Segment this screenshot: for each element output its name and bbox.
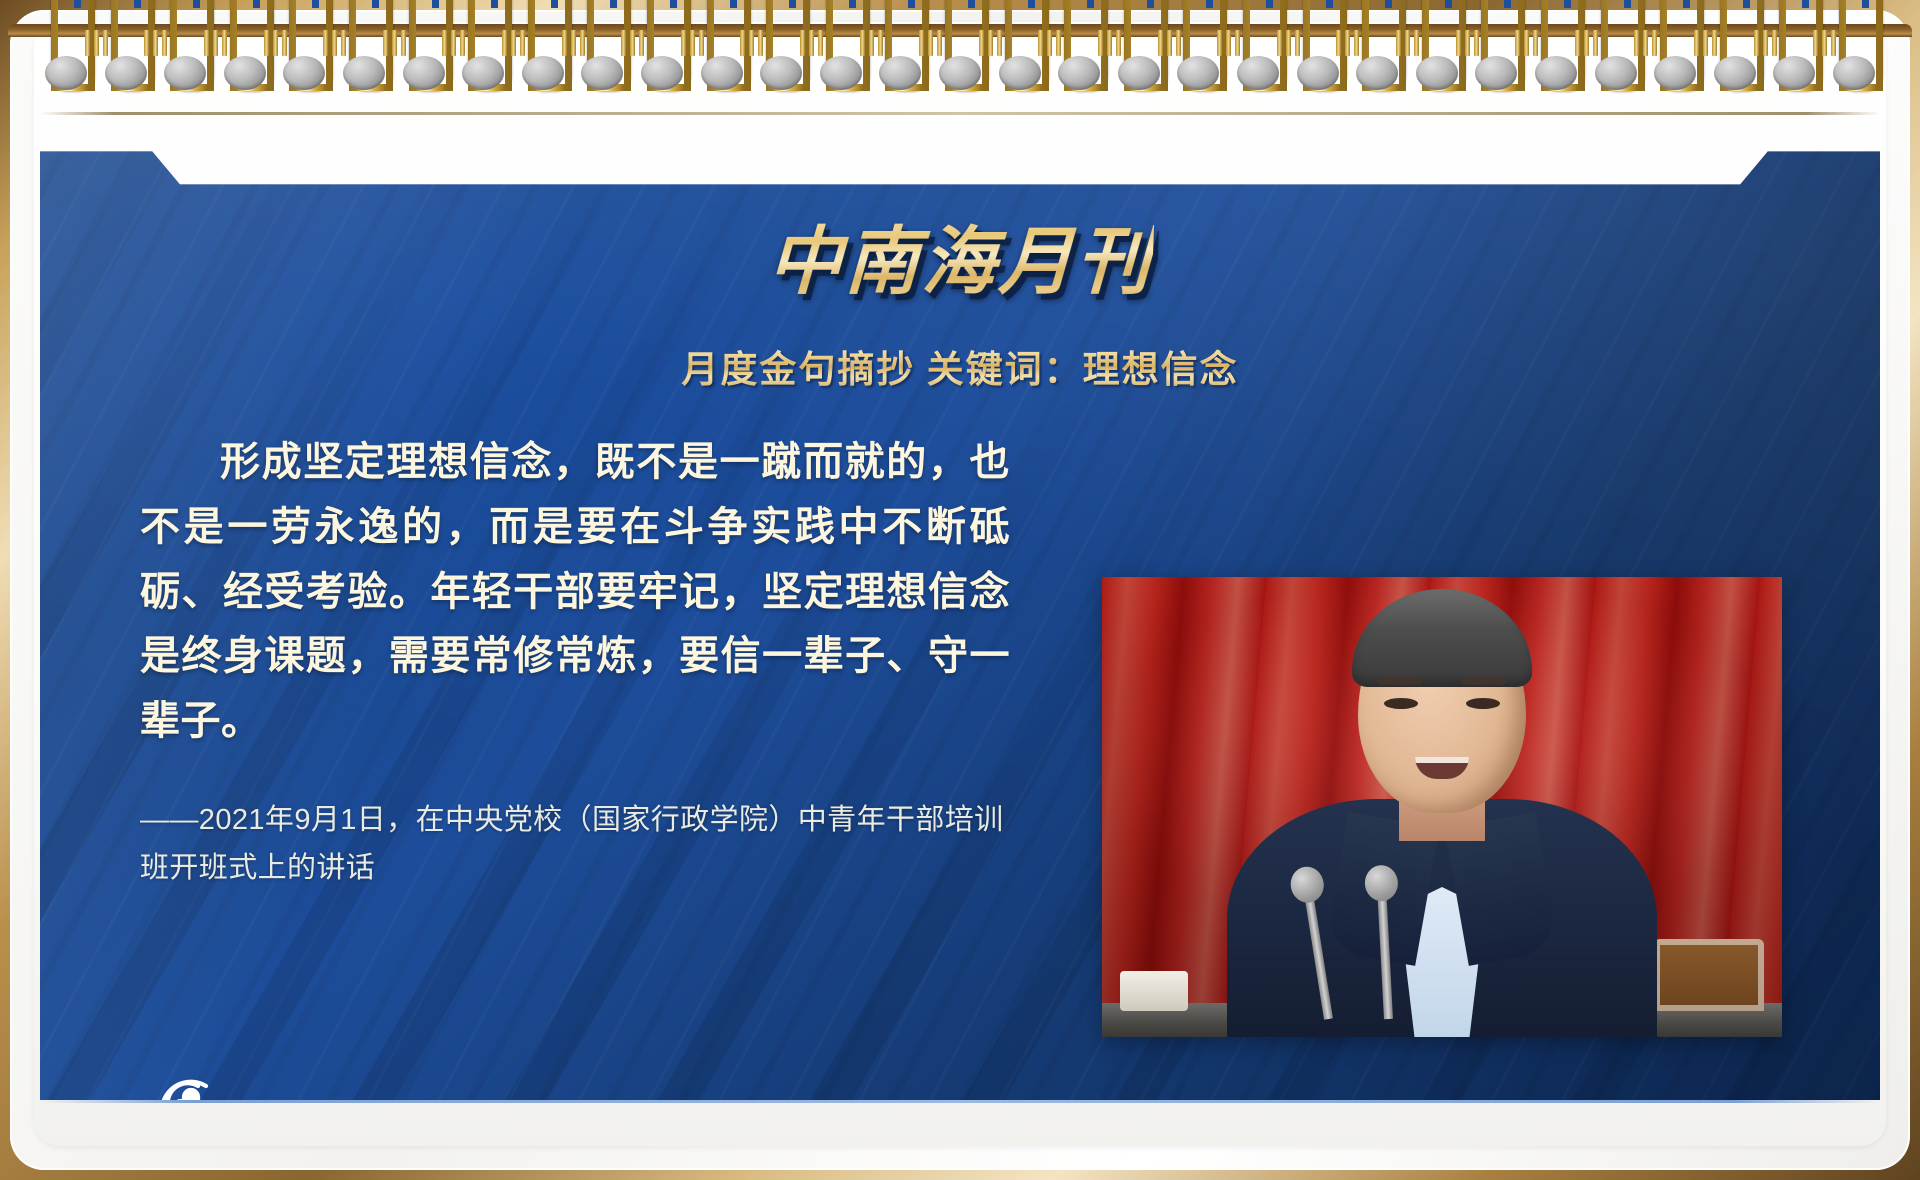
chair-back — [1654, 939, 1764, 1011]
binding-ring — [1062, 0, 1096, 96]
binding-grommet — [462, 56, 504, 90]
binding-tick — [1235, 30, 1240, 56]
binding-tick — [282, 30, 287, 56]
binding-ring — [49, 0, 83, 96]
subtitle-keyword-line: 月度金句摘抄 关键词：理想信念 — [681, 339, 1238, 393]
binding-grommet — [1058, 56, 1100, 90]
binding-ring — [526, 0, 560, 96]
binding-grommet — [701, 56, 743, 90]
binding-tick — [1712, 30, 1717, 56]
binding-tick — [1176, 30, 1181, 56]
binding-tick — [1414, 30, 1419, 56]
binding-grommet — [1714, 56, 1756, 90]
binding-grommet — [343, 56, 385, 90]
binding-tick — [323, 30, 328, 56]
binding-ring — [1777, 0, 1811, 96]
binding-tick — [1593, 30, 1598, 56]
binding-ring — [347, 0, 381, 96]
binding-tick — [919, 30, 924, 56]
binding-grommet — [105, 56, 147, 90]
quote-column: 形成坚定理想信念，既不是一蹴而就的，也不是一劳永逸的，而是要在斗争实践中不断砥砺… — [140, 430, 1010, 892]
binding-ring — [1479, 0, 1513, 96]
binding-tick — [1056, 30, 1061, 56]
binding-tick — [1643, 30, 1648, 56]
binding-tick — [1634, 30, 1639, 56]
binding-tick — [1158, 30, 1163, 56]
binding-tick — [937, 30, 942, 56]
binding-tick — [571, 30, 576, 56]
binding-ring — [1122, 0, 1156, 96]
binding-ring — [705, 0, 739, 96]
binding-tick — [511, 30, 516, 56]
binding-grommet — [1833, 56, 1875, 90]
binding-tick — [988, 30, 993, 56]
binding-tick — [809, 30, 814, 56]
binding-tick — [94, 30, 99, 56]
binding-grommet — [522, 56, 564, 90]
binding-tick — [1295, 30, 1300, 56]
binding-grommet — [1654, 56, 1696, 90]
binding-grommet — [45, 56, 87, 90]
binding-tick — [1652, 30, 1657, 56]
page-title: 中南海月刊 — [766, 202, 1155, 309]
binding-tick — [85, 30, 90, 56]
binding-tick — [1456, 30, 1461, 56]
binding-tick — [800, 30, 805, 56]
binding-tick — [264, 30, 269, 56]
binding-tick — [162, 30, 167, 56]
figure-eye-left — [1384, 698, 1418, 709]
binding-tick — [1474, 30, 1479, 56]
binding-tick — [1167, 30, 1172, 56]
binding-tick — [878, 30, 883, 56]
binding-tick — [442, 30, 447, 56]
binding-ring — [1599, 0, 1633, 96]
binding-tick — [144, 30, 149, 56]
figure-brow-right — [1462, 678, 1506, 685]
binding-tick — [103, 30, 108, 56]
binding-tick — [383, 30, 388, 56]
binding-tick — [869, 30, 874, 56]
binding-tick — [451, 30, 456, 56]
binding-tick — [520, 30, 525, 56]
binding-grommet — [1416, 56, 1458, 90]
binding-ring — [407, 0, 441, 96]
binding-grommet — [939, 56, 981, 90]
binding-ring — [764, 0, 798, 96]
binding-tick — [758, 30, 763, 56]
binding-tick — [1584, 30, 1589, 56]
binding-tick — [1345, 30, 1350, 56]
binding-grommet — [1356, 56, 1398, 90]
leader-photograph — [1102, 577, 1782, 1037]
binding-grommet — [164, 56, 206, 90]
binding-ring — [883, 0, 917, 96]
binding-tick — [690, 30, 695, 56]
binding-ring — [1301, 0, 1335, 96]
binding-tick — [1396, 30, 1401, 56]
binding-grommet — [760, 56, 802, 90]
binding-tick — [681, 30, 686, 56]
blue-content-panel: 中南海月刊 月度金句摘抄 关键词：理想信念 形成坚定理想信念，既不是一蹴而就的，… — [40, 130, 1880, 1100]
binding-tick — [273, 30, 278, 56]
binding-tick — [213, 30, 218, 56]
binding-tick — [699, 30, 704, 56]
binding-tick — [1107, 30, 1112, 56]
binding-tick — [818, 30, 823, 56]
binding-ring — [585, 0, 619, 96]
binding-tick — [1515, 30, 1520, 56]
binding-tick — [1524, 30, 1529, 56]
binding-tick — [630, 30, 635, 56]
panel-bottom-highlight — [40, 1100, 1880, 1103]
binding-tick — [1047, 30, 1052, 56]
figure-brow-left — [1378, 678, 1422, 685]
binding-tick — [562, 30, 567, 56]
binding-tick — [1226, 30, 1231, 56]
binding-grommet — [224, 56, 266, 90]
binding-grommet — [1535, 56, 1577, 90]
binding-grommet — [403, 56, 445, 90]
binding-grommet — [820, 56, 862, 90]
binding-ring — [824, 0, 858, 96]
binding-tick — [1038, 30, 1043, 56]
binding-ring — [1658, 0, 1692, 96]
binding-tick — [1405, 30, 1410, 56]
binding-grommet — [1297, 56, 1339, 90]
binding-tick — [740, 30, 745, 56]
paper-top-rule — [40, 112, 1880, 115]
binding-tick — [1354, 30, 1359, 56]
binding-tick — [997, 30, 1002, 56]
binding-tick — [1831, 30, 1836, 56]
figure-eye-right — [1466, 698, 1500, 709]
binding-tick — [1575, 30, 1580, 56]
binding-ring — [943, 0, 977, 96]
binding-tick — [1822, 30, 1827, 56]
binding-grommet — [1595, 56, 1637, 90]
binding-tick — [860, 30, 865, 56]
binding-tick — [639, 30, 644, 56]
binding-tick — [1277, 30, 1282, 56]
binding-tick — [1098, 30, 1103, 56]
binding-tick — [392, 30, 397, 56]
quote-attribution: ——2021年9月1日，在中央党校（国家行政学院）中青年干部培训班开班式上的讲话 — [140, 796, 1010, 892]
binding-tick — [341, 30, 346, 56]
binding-tick — [1694, 30, 1699, 56]
binding-tick — [1772, 30, 1777, 56]
binding-tick — [749, 30, 754, 56]
binding-ring — [1003, 0, 1037, 96]
tap-hand-icon[interactable] — [144, 1070, 240, 1100]
spiral-binding — [0, 0, 1920, 112]
binding-ring — [287, 0, 321, 96]
binding-tick — [332, 30, 337, 56]
binding-ring — [109, 0, 143, 96]
binding-ring — [1718, 0, 1752, 96]
binding-tick — [460, 30, 465, 56]
binding-ring — [1539, 0, 1573, 96]
binding-tick — [1763, 30, 1768, 56]
binding-tick — [928, 30, 933, 56]
water-cup — [1120, 971, 1188, 1011]
binding-tick — [580, 30, 585, 56]
binding-ring — [466, 0, 500, 96]
binding-tick — [1116, 30, 1121, 56]
binding-ring — [1181, 0, 1215, 96]
binding-tick — [1465, 30, 1470, 56]
binding-tick — [1217, 30, 1222, 56]
binding-tick — [222, 30, 227, 56]
binding-grommet — [1118, 56, 1160, 90]
binding-tick — [153, 30, 158, 56]
binding-grommet — [999, 56, 1041, 90]
binding-tick — [1754, 30, 1759, 56]
binding-ring — [1360, 0, 1394, 96]
binding-ring — [228, 0, 262, 96]
binding-tick — [1813, 30, 1818, 56]
masthead: 中南海月刊 月度金句摘抄 关键词：理想信念 — [40, 202, 1880, 393]
binding-ring — [168, 0, 202, 96]
binding-tick — [1533, 30, 1538, 56]
binding-tick — [204, 30, 209, 56]
binding-tick — [621, 30, 626, 56]
binding-ring — [1420, 0, 1454, 96]
binding-grommet — [1237, 56, 1279, 90]
binding-grommet — [641, 56, 683, 90]
binding-tick — [1703, 30, 1708, 56]
binding-tick — [1336, 30, 1341, 56]
binding-ring — [1837, 0, 1871, 96]
binding-ring — [645, 0, 679, 96]
quote-body: 形成坚定理想信念，既不是一蹴而就的，也不是一劳永逸的，而是要在斗争实践中不断砥砺… — [140, 430, 1010, 754]
binding-ring — [1241, 0, 1275, 96]
binding-tick — [1286, 30, 1291, 56]
binding-tick — [979, 30, 984, 56]
binding-tick — [502, 30, 507, 56]
binding-tick — [401, 30, 406, 56]
